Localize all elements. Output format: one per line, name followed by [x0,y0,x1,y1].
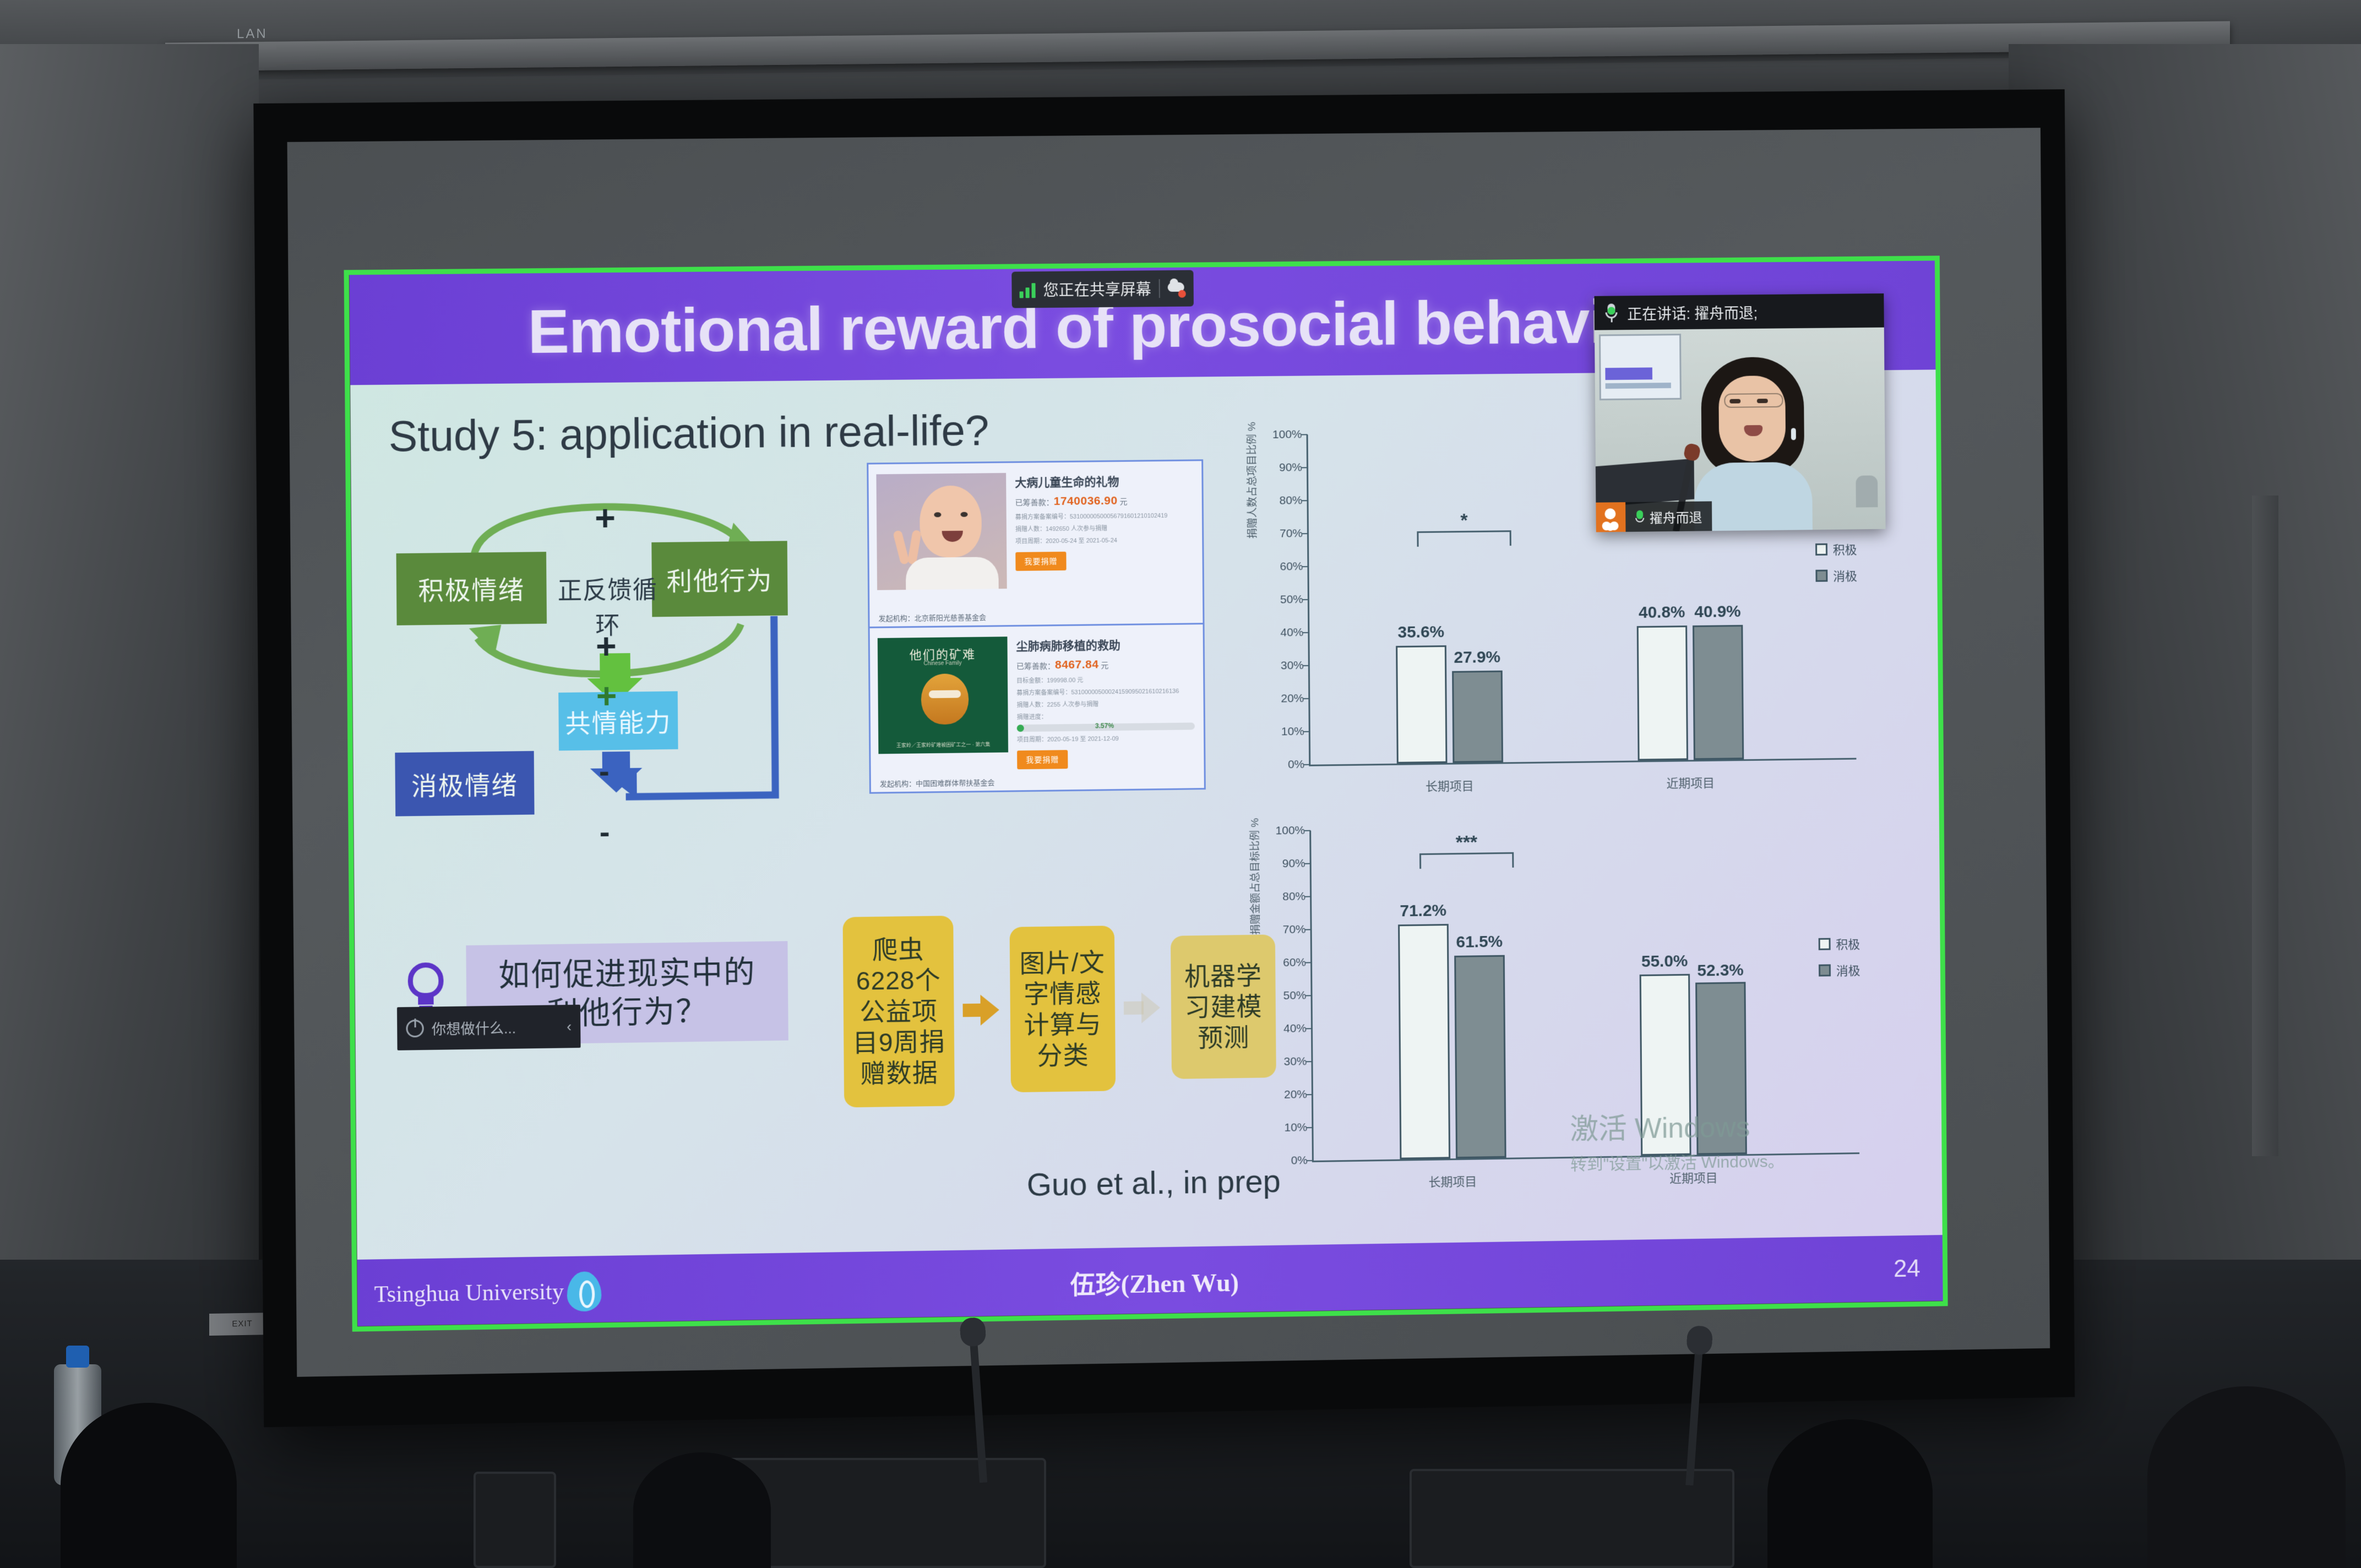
watermark-line-1: 激活 Windows [1570,1103,1784,1147]
bar-positive-recent [1637,625,1688,760]
legend-positive: 积极 [1833,540,1857,558]
windows-taskbar-search[interactable]: 你想做什么... ‹ [397,1005,581,1050]
bar-negative-recent [1693,625,1744,760]
chevron-right-icon[interactable]: ‹ [567,1018,572,1035]
chart1-significance-bracket [1417,530,1511,547]
charity-progress-value: 3.57% [1095,722,1114,729]
projection-screen-frame: Emotional reward of prosocial behavio 您正… [253,89,2075,1427]
wall-left [0,44,259,1420]
video-panel-header: 正在讲话: 擢舟而退; [1594,293,1884,330]
y-tick: 90% [1282,857,1305,871]
charity-line-1: 募捐方案备案编号：53100000500056791601210102419 [1015,510,1193,521]
charity-line-2: 捐赠人数：2255 人次参与捐赠 [1016,698,1194,709]
feedback-loop-diagram: 积极情绪 利他行为 消极情绪 共情能力 正反馈循环 + + + - - [384,485,831,844]
charity-title: 尘肺病肺移植的救助 [1016,635,1194,654]
pipeline-step-3: 机器学习建模预测 [1171,934,1276,1079]
charity-progress-bar: 3.57% [1017,722,1195,732]
active-speaker-label: 正在讲话: 擢舟而退; [1627,301,1758,324]
question-line-1: 如何促进现实中的 [498,954,756,993]
charity-info: 尘肺病肺移植的救助 已筹善款：8467.84 元 目标金额：199998.00 … [1014,624,1204,790]
charity-line-1: 募捐方案备案编号：5310000050002415909502161021613… [1016,686,1194,697]
ceiling-sign: LAN [237,26,268,42]
diagram-negative-emotion: 消极情绪 [395,751,534,816]
presenter-name: 伍珍(Zhen Wu) [357,1251,1943,1313]
y-tick: 10% [1284,1121,1307,1135]
diagram-empathy: 共情能力 [558,691,678,750]
charity-line-3: 项目周期：2020-05-19 至 2021-12-09 [1017,733,1195,744]
taskbar-search-label[interactable]: 你想做什么... [432,1017,516,1038]
bar-value: 40.9% [1671,602,1764,622]
charity-projects-panel: 发起机构：北京新阳光慈善基金会 大病儿童生命的礼物 已筹善款：1740036.9… [867,459,1206,793]
y-tick: 10% [1281,725,1304,738]
charity-line-3: 项目周期：2020-05-24 至 2021-05-24 [1015,535,1193,546]
charity-raised-label: 已筹善款： [1015,498,1053,507]
y-tick: 100% [1272,428,1302,442]
participant-name-badge: 擢舟而退 [1596,501,1712,532]
charity-currency: 元 [1120,497,1128,506]
charity-item[interactable]: 他们的矿难 Chinese Family 王家岭／王家岭矿难被困矿工之一 · 第… [870,624,1204,792]
toolbar-divider [1159,279,1160,298]
y-tick: 70% [1280,527,1303,540]
chart1-y-ticks: 0% 10% 20% 30% 40% 50% 60% 70% 80% 90% 1 [1258,434,1305,765]
charity-raised-label: 已筹善款： [1016,661,1055,671]
x-tick-label: 近期项目 [1625,773,1756,792]
y-tick: 20% [1281,692,1304,705]
y-tick: 100% [1275,824,1305,838]
charity-raised: 已筹善款：8467.84 元 [1016,657,1194,672]
y-tick: 40% [1280,626,1303,639]
charity-thumbnail-poster: 他们的矿难 Chinese Family 王家岭／王家岭矿难被困矿工之一 · 第… [878,636,1008,754]
legend-negative: 消极 [1833,567,1857,584]
audience-silhouette [1767,1419,1933,1568]
charity-info: 大病儿童生命的礼物 已筹善款：1740036.90 元 募捐方案备案编号：531… [1013,461,1203,625]
legend-negative: 消极 [1836,961,1860,979]
poster-caption: 王家岭／王家岭矿难被困矿工之一 · 第六集 [878,742,1008,750]
chair-back [474,1472,556,1568]
audience-silhouette [61,1403,237,1568]
background-person [1856,475,1878,507]
chart1-legend: 积极 消极 [1815,540,1908,593]
charity-raised: 已筹善款：1740036.90 元 [1015,493,1193,508]
bar-value: 52.3% [1674,961,1767,981]
share-status-label: 您正在共享屏幕 [1043,277,1151,301]
charity-raised-amount: 1740036.90 [1054,494,1118,508]
zoom-speaker-video-panel[interactable]: 正在讲话: 擢舟而退; [1594,293,1885,532]
background-whiteboard [1599,334,1682,400]
poster-subtitle: Chinese Family [878,660,1008,667]
wall-duct [2252,496,2278,1156]
power-icon[interactable] [406,1020,424,1038]
charity-progress-label: 捐赠进度： [1017,710,1195,721]
cloud-recording-icon[interactable] [1167,279,1185,298]
participant-name: 擢舟而退 [1650,507,1702,526]
charity-donate-button[interactable]: 我要捐赠 [1017,750,1068,769]
projection-screen-surface: Emotional reward of prosocial behavio 您正… [287,128,2050,1377]
diagram-minus-one: - [599,753,610,788]
right-arrow-icon [962,994,1002,1026]
chart1-significance-star: * [1460,510,1467,531]
zoom-share-toolbar[interactable]: 您正在共享屏幕 [1011,270,1194,308]
charity-raised-amount: 8467.84 [1055,658,1099,671]
diagram-positive-emotion: 积极情绪 [396,552,547,625]
chart2-legend: 积极 消极 [1819,934,1912,988]
charity-thumbnail-child [876,473,1007,590]
diagram-plus-top: + [595,498,616,539]
charity-org-caption: 发起机构：北京新阳光慈善基金会 [878,612,986,623]
watermark-line-2: 转到"设置"以激活 Windows。 [1570,1147,1785,1175]
bar-value: 61.5% [1433,932,1526,952]
chair-back [727,1458,1046,1568]
audience-silhouette [633,1452,771,1568]
signal-bars-icon [1019,281,1035,298]
pipeline-step-2: 图片/文字情感计算与分类 [1010,925,1116,1092]
charity-donate-button[interactable]: 我要捐赠 [1015,552,1066,571]
y-tick: 80% [1279,494,1302,507]
y-tick: 90% [1279,461,1302,474]
y-tick: 50% [1280,593,1303,606]
y-tick: 30% [1281,659,1304,672]
video-feed: 擢舟而退 [1595,328,1886,532]
y-tick: 0% [1288,758,1304,771]
bar-negative-long-term [1452,670,1503,763]
charity-item[interactable]: 发起机构：北京新阳光慈善基金会 大病儿童生命的礼物 已筹善款：1740036.9… [868,461,1203,628]
chart2-significance-bracket [1419,852,1514,869]
bar-value: 27.9% [1430,647,1524,667]
legend-positive: 积极 [1836,935,1860,952]
lecture-room-photo: LAN EXIT Emotional reward of prosocial b… [0,0,2361,1568]
bar-positive-long-term [1398,924,1450,1159]
charity-line-2: 捐赠人数：1492650 人次参与捐赠 [1015,522,1193,533]
y-tick: 60% [1280,560,1303,573]
chart1-y-axis-label: 捐赠人数占总项目比例 % [1243,373,1259,538]
microphone-icon [1635,510,1644,524]
person-avatar-icon [1596,502,1625,532]
charity-target: 目标金额：199998.00 元 [1016,674,1194,685]
bar-negative-long-term [1454,955,1506,1159]
diagram-minus-two: - [599,814,610,850]
audience-silhouette [2147,1386,2346,1568]
diagram-plus-mid: + [596,625,617,667]
charity-org-caption: 发起机构：中国困难群体帮扶基金会 [880,777,995,789]
charity-title: 大病儿童生命的礼物 [1015,472,1193,490]
analysis-pipeline: 爬虫6228个公益项目9周捐赠数据 图片/文字情感计算与分类 机器学习建模预测 [842,889,1395,1128]
slide-subtitle: Study 5: application in real-life? [388,405,989,461]
bar-value: 35.6% [1374,623,1468,643]
windows-activation-watermark: 激活 Windows 转到"设置"以激活 Windows。 [1570,1103,1785,1175]
chart2-significance-stars: *** [1456,832,1478,853]
slide-number: 24 [1894,1255,1921,1283]
x-tick-label: 长期项目 [1384,776,1515,795]
diagram-plus-empathy: + [596,676,617,717]
diagram-altruistic-behavior: 利他行为 [651,541,787,617]
pipeline-step-1: 爬虫6228个公益项目9周捐赠数据 [843,916,955,1107]
right-arrow-icon [1124,992,1162,1023]
microphone-icon [1605,303,1617,322]
charity-currency: 元 [1101,661,1108,669]
